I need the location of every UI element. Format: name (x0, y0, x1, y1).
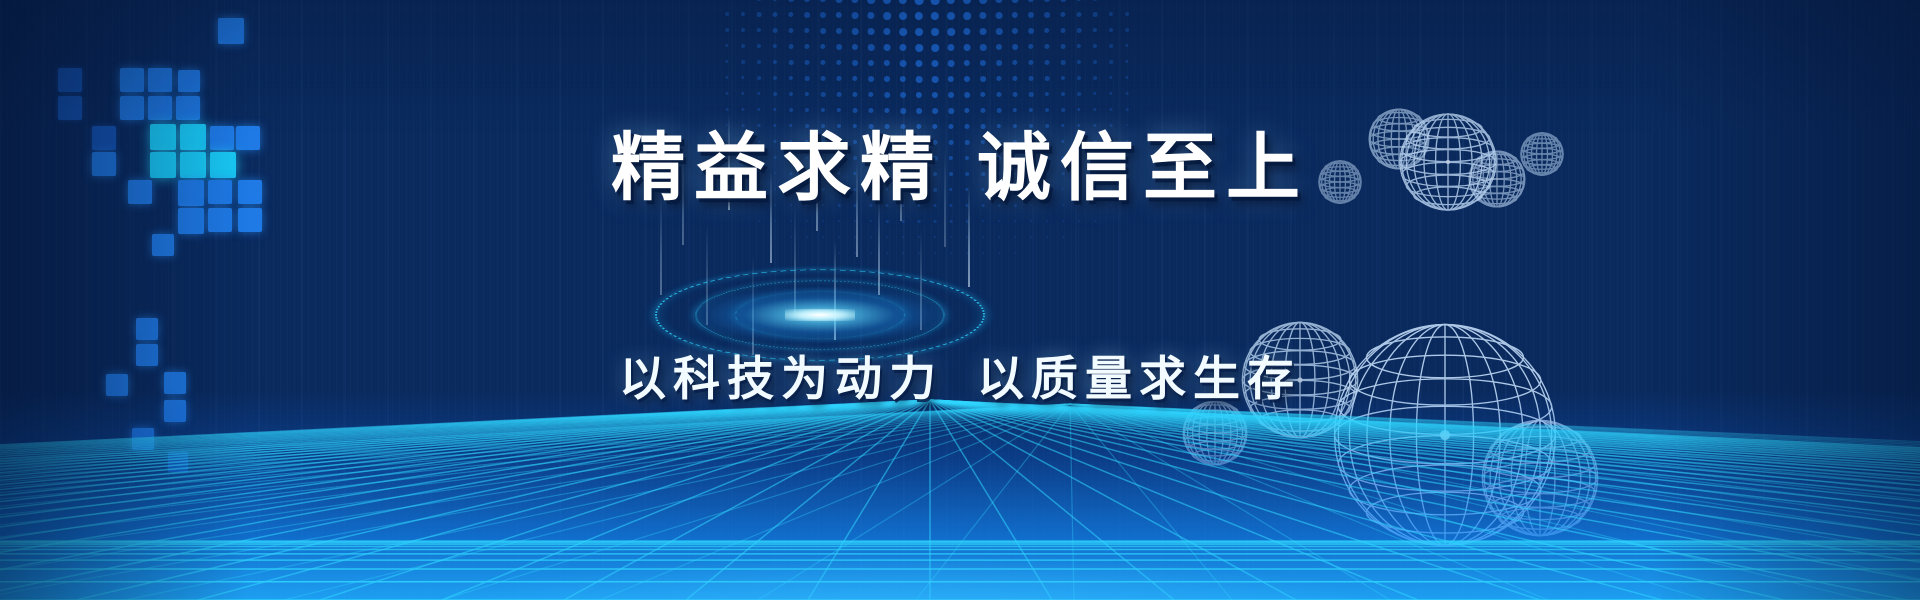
halftone-dot (1109, 92, 1112, 95)
halftone-dot (979, 0, 987, 4)
halftone-dot (1012, 28, 1018, 34)
halftone-dot (980, 44, 987, 51)
halftone-dot (726, 236, 727, 237)
light-ray (834, 240, 836, 340)
halftone-dot (821, 92, 826, 97)
halftone-dot (1093, 0, 1098, 1)
halftone-dot (1012, 76, 1017, 81)
halftone-dot (806, 220, 808, 222)
halftone-dot (996, 92, 1001, 97)
halftone-dot (837, 92, 842, 97)
halftone-dot (1078, 236, 1079, 237)
halftone-dot (1093, 92, 1096, 95)
halftone-dot (852, 92, 857, 97)
halftone-dot (931, 60, 938, 67)
halftone-dot (947, 12, 955, 20)
halftone-dot (789, 92, 793, 96)
halftone-dot (916, 92, 922, 98)
halftone-dot (820, 60, 825, 65)
halftone-dot (805, 76, 810, 81)
halftone-dot (852, 12, 859, 19)
halftone-dot (805, 92, 809, 96)
halftone-dot (804, 0, 810, 2)
halftone-dot (1125, 76, 1128, 79)
halftone-dot (1028, 60, 1033, 65)
halftone-dot (1012, 0, 1019, 3)
halftone-dot (982, 236, 984, 238)
halftone-dot (758, 236, 759, 237)
headline-part-1: 精益求精 (611, 125, 943, 211)
halftone-dot (852, 44, 858, 50)
halftone-dot (932, 92, 938, 98)
halftone-dot (950, 220, 953, 223)
halftone-dot (836, 0, 843, 3)
halftone-dot (757, 44, 761, 48)
halftone-dot (1077, 92, 1081, 96)
halftone-dot (772, 0, 777, 1)
halftone-dot (725, 44, 728, 47)
halftone-dot (852, 60, 858, 66)
mosaic-square (178, 70, 200, 92)
halftone-dot (806, 236, 808, 238)
halftone-dot (883, 0, 891, 4)
halftone-dot (966, 252, 968, 254)
halftone-dot (851, 0, 858, 3)
halftone-dot (789, 60, 794, 65)
halftone-dot (1028, 12, 1034, 18)
halftone-dot (1045, 92, 1049, 96)
halftone-dot (1126, 236, 1127, 237)
halftone-dot (804, 28, 809, 33)
halftone-dot (1028, 28, 1034, 34)
halftone-dot (822, 252, 823, 253)
halftone-dot (838, 236, 840, 238)
halftone-dot (774, 236, 775, 237)
halftone-dot (822, 236, 824, 238)
halftone-dot (1125, 44, 1128, 47)
halftone-dot (838, 220, 840, 222)
halftone-dot (1062, 220, 1064, 222)
halftone-dot (868, 44, 875, 51)
halftone-dot (742, 236, 743, 237)
halftone-dot (963, 12, 971, 20)
halftone-dot (758, 220, 760, 222)
halftone-dot (1077, 60, 1081, 64)
halftone-dot (725, 60, 728, 63)
halftone-dot (867, 12, 874, 19)
halftone-dot (1014, 220, 1016, 222)
halftone-dot (788, 28, 793, 33)
halftone-dot (1046, 252, 1047, 253)
halftone-dot (1094, 220, 1096, 222)
halftone-dot (884, 44, 891, 51)
halftone-dot (741, 92, 744, 95)
halftone-dot (1110, 220, 1111, 221)
halftone-dot (852, 76, 857, 81)
mosaic-square (58, 68, 82, 92)
halftone-dot (980, 60, 986, 66)
halftone-dot (870, 252, 872, 254)
portal-ring-inner (735, 292, 905, 339)
halftone-dot (1093, 12, 1098, 17)
halftone-dot (982, 252, 984, 254)
halftone-dot (980, 92, 985, 97)
halftone-dot (1111, 252, 1112, 253)
halftone-dot (757, 12, 762, 17)
halftone-dot (916, 76, 923, 83)
halftone-dot (1109, 60, 1113, 64)
halftone-dot (998, 252, 1000, 254)
halftone-dot (725, 28, 729, 32)
halftone-dot (725, 12, 729, 16)
halftone-dot (725, 76, 728, 79)
halftone-dot (1125, 60, 1128, 63)
halftone-dot (726, 92, 729, 95)
halftone-dot (821, 76, 826, 81)
halftone-dot (854, 236, 856, 238)
halftone-dot (790, 236, 792, 238)
mosaic-square (148, 68, 172, 92)
halftone-dot (820, 12, 826, 18)
halftone-dot (774, 252, 775, 253)
halftone-dot (773, 12, 778, 17)
halftone-dot (836, 28, 842, 34)
halftone-dot (852, 28, 859, 35)
halftone-dot (804, 44, 809, 49)
halftone-dot (902, 220, 905, 223)
perspective-grid-floor (0, 390, 1920, 600)
halftone-dot (1060, 12, 1065, 17)
halftone-dot (836, 12, 842, 18)
halftone-dot (1094, 252, 1095, 253)
halftone-dot (964, 44, 971, 51)
halftone-dot (1126, 92, 1129, 95)
halftone-dot (788, 12, 793, 17)
halftone-dot (948, 76, 954, 82)
halftone-dot (870, 220, 872, 222)
halftone-dot (915, 44, 923, 52)
halftone-dot (1061, 60, 1066, 65)
light-ray (794, 205, 796, 313)
halftone-dot (836, 60, 841, 65)
halftone-dot (1109, 44, 1113, 48)
subline-part-1: 以科技为动力 (619, 352, 943, 407)
halftone-dot (1078, 220, 1080, 222)
halftone-dot (1029, 76, 1034, 81)
halftone-dot (741, 12, 745, 16)
subline-part-2: 以质量求生存 (977, 352, 1301, 407)
halftone-dot (996, 76, 1001, 81)
halftone-dot (838, 252, 840, 254)
halftone-dot (1045, 76, 1050, 81)
halftone-dot (899, 0, 907, 4)
page-subtitle: 以科技为动力以质量求生存 (0, 340, 1920, 409)
halftone-dot (963, 0, 971, 4)
halftone-dot (1077, 44, 1081, 48)
halftone-dot (1028, 0, 1034, 2)
halftone-dot (804, 12, 810, 18)
halftone-dot (1093, 76, 1097, 80)
halftone-dot (836, 76, 841, 81)
halftone-dot (915, 0, 924, 5)
halftone-dot (996, 60, 1002, 66)
halftone-dot (1012, 12, 1018, 18)
halftone-dot (964, 60, 970, 66)
halftone-dot (947, 28, 955, 36)
halftone-dot (836, 44, 842, 50)
halftone-dot (963, 28, 970, 35)
halftone-dot (899, 28, 907, 36)
halftone-dot (883, 28, 890, 35)
halftone-dot (1061, 44, 1066, 49)
halftone-dot (1093, 60, 1097, 64)
halftone-dot (918, 220, 921, 223)
halftone-dot (757, 0, 762, 1)
halftone-dot (964, 76, 970, 82)
halftone-dot (1062, 252, 1063, 253)
halftone-dot (1046, 236, 1048, 238)
floor-glow-band (0, 450, 1920, 600)
halftone-dot (822, 220, 824, 222)
mosaic-square (152, 234, 174, 256)
halftone-dot (899, 44, 906, 51)
halftone-dot (886, 252, 888, 254)
halftone-dot (1062, 236, 1064, 238)
halftone-dot (884, 60, 890, 66)
halftone-dot (902, 252, 904, 254)
halftone-dot (998, 220, 1000, 222)
halftone-dot (918, 236, 920, 238)
halftone-dot (1060, 0, 1066, 2)
halftone-dot (1078, 252, 1079, 253)
halftone-dot (758, 252, 759, 253)
halftone-dot (964, 92, 970, 98)
halftone-dot (948, 92, 954, 98)
halftone-dot (1045, 60, 1050, 65)
halftone-dot (820, 44, 825, 49)
halftone-dot (1030, 252, 1031, 253)
halftone-dot (947, 44, 954, 51)
halftone-dot (1126, 220, 1127, 221)
halftone-dot (1109, 12, 1113, 16)
halftone-dot (886, 236, 888, 238)
halftone-dot (948, 60, 955, 67)
halftone-dot (773, 92, 777, 96)
halftone-dot (868, 76, 874, 82)
halftone-dot (979, 12, 986, 19)
halftone-dot (773, 60, 777, 64)
halftone-dot (1110, 236, 1111, 237)
halftone-dot (1125, 12, 1129, 16)
halftone-dot (1109, 28, 1113, 32)
halftone-dot (915, 28, 923, 36)
halftone-dot (966, 236, 968, 238)
halftone-dot (789, 44, 794, 49)
halftone-dot (820, 0, 826, 2)
mosaic-square (218, 18, 244, 44)
halftone-dot (1014, 236, 1016, 238)
halftone-dot (1077, 76, 1081, 80)
page-title: 精益求精诚信至上 (0, 108, 1920, 215)
halftone-dot (947, 0, 955, 4)
halftone-dot (1125, 28, 1129, 32)
halftone-dot (982, 220, 984, 222)
halftone-dot (774, 220, 776, 222)
halftone-dot (868, 60, 874, 66)
halftone-dot (995, 0, 1002, 3)
halftone-dot (757, 28, 761, 32)
halftone-dot (773, 44, 777, 48)
halftone-dot (1046, 220, 1048, 222)
halftone-dot (773, 28, 778, 33)
halftone-dot (1077, 28, 1082, 33)
halftone-dot (1030, 220, 1032, 222)
light-ray (706, 225, 708, 325)
halftone-dot (820, 28, 826, 34)
halftone-dot (966, 220, 969, 223)
halftone-dot (915, 60, 922, 67)
halftone-dot (1013, 92, 1018, 97)
halftone-dot (726, 220, 727, 221)
headline-part-2: 诚信至上 (977, 125, 1309, 211)
halftone-dot (1093, 28, 1097, 32)
halftone-dot (1012, 60, 1017, 65)
halftone-dot (883, 12, 891, 20)
halftone-dot (757, 92, 760, 95)
halftone-dot (757, 60, 761, 64)
halftone-dot (931, 0, 940, 5)
halftone-dot (934, 252, 936, 254)
halftone-dot (900, 60, 907, 67)
halftone-dot (996, 28, 1003, 35)
halftone-dot (854, 220, 856, 222)
halftone-dot (1014, 252, 1016, 254)
halftone-dot (1077, 12, 1082, 17)
halftone-dot (1012, 44, 1018, 50)
halftone-dot (1044, 28, 1049, 33)
portal-core-glow (690, 286, 950, 344)
halftone-dot (773, 76, 777, 80)
halftone-dot (1094, 236, 1095, 237)
halftone-dot (899, 12, 907, 20)
halftone-dot (884, 92, 890, 98)
halftone-dot (918, 252, 920, 254)
halftone-dot (932, 76, 939, 83)
mosaic-square (136, 318, 158, 340)
hero-banner: 精益求精诚信至上 以科技为动力以质量求生存 (0, 0, 1920, 600)
halftone-dot (788, 0, 794, 2)
halftone-dot (870, 236, 872, 238)
halftone-dot (867, 0, 875, 4)
halftone-dot (1093, 44, 1097, 48)
halftone-dot (950, 236, 952, 238)
halftone-dot (998, 236, 1000, 238)
halftone-dot (934, 220, 937, 223)
halftone-dot (931, 44, 939, 52)
halftone-dot (1044, 12, 1050, 18)
halftone-dot (868, 28, 875, 35)
halftone-dot (931, 28, 939, 36)
halftone-dot (902, 236, 904, 238)
halftone-dot (741, 60, 745, 64)
halftone-dot (790, 252, 791, 253)
halftone-dot (900, 92, 906, 98)
halftone-dot (996, 12, 1003, 19)
halftone-dot (1109, 76, 1112, 79)
halftone-dot (996, 44, 1002, 50)
halftone-dot (980, 28, 987, 35)
halftone-dot (1076, 0, 1081, 1)
mosaic-square (120, 68, 144, 92)
halftone-dot (950, 252, 952, 254)
halftone-dot (1044, 0, 1050, 2)
halftone-dot (931, 12, 939, 20)
light-ray (920, 230, 922, 330)
halftone-dot (934, 236, 936, 238)
halftone-dot (886, 220, 889, 223)
portal-core-highlight (785, 309, 855, 321)
halftone-dot (805, 60, 810, 65)
halftone-dot (741, 76, 744, 79)
halftone-dot (742, 220, 743, 221)
halftone-dot (789, 76, 793, 80)
halftone-dot (1061, 76, 1065, 80)
halftone-dot (1060, 28, 1065, 33)
halftone-dot (1061, 92, 1065, 96)
halftone-dot (884, 76, 890, 82)
halftone-dot (900, 76, 906, 82)
halftone-dot (806, 252, 807, 253)
halftone-dot (1028, 44, 1033, 49)
halftone-dot (1030, 236, 1032, 238)
halftone-dot (854, 252, 856, 254)
halftone-dot (741, 44, 745, 48)
halftone-dot (790, 220, 792, 222)
halftone-dot (868, 92, 873, 97)
halftone-dot (915, 12, 923, 20)
halftone-dot (1044, 44, 1049, 49)
halftone-dot (743, 252, 744, 253)
halftone-dot (1029, 92, 1034, 97)
halftone-dot (980, 76, 986, 82)
halftone-dot (757, 76, 761, 80)
halftone-dot (741, 28, 745, 32)
